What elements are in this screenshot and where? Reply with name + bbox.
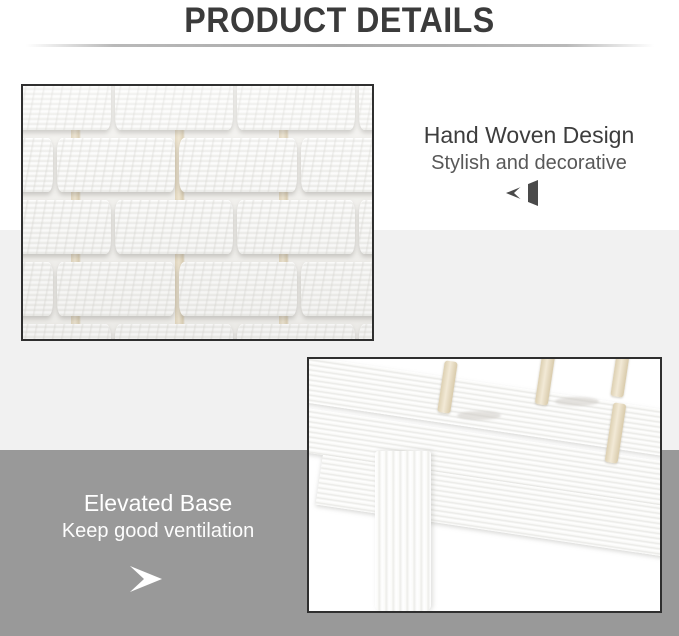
base-scene bbox=[309, 359, 660, 611]
base-wooden-post bbox=[610, 357, 632, 398]
title-divider bbox=[26, 44, 654, 47]
callout-title: Hand Woven Design bbox=[396, 120, 662, 150]
photo-elevated-base bbox=[307, 357, 662, 613]
arrow-right-icon bbox=[130, 566, 162, 592]
photo-woven-texture bbox=[21, 84, 374, 341]
weave-slat-row bbox=[23, 134, 372, 196]
base-gap-shadow bbox=[457, 411, 501, 420]
product-details-infographic: PRODUCT DETAILS bbox=[0, 0, 679, 636]
weave-slat-row bbox=[23, 258, 372, 320]
callout-title: Elevated Base bbox=[24, 488, 292, 518]
callout-elevated-base: Elevated Base Keep good ventilation bbox=[24, 488, 292, 545]
callout-subtitle: Keep good ventilation bbox=[24, 518, 292, 545]
base-leg bbox=[375, 451, 431, 611]
page-title: PRODUCT DETAILS bbox=[27, 1, 652, 41]
weave-slat-row bbox=[23, 320, 372, 341]
weave-slat-row bbox=[23, 196, 372, 258]
base-gap-shadow bbox=[555, 397, 599, 406]
callout-subtitle: Stylish and decorative bbox=[396, 150, 662, 177]
callout-hand-woven: Hand Woven Design Stylish and decorative bbox=[396, 120, 662, 177]
weave-slat-row bbox=[23, 84, 372, 134]
arrow-left-icon bbox=[506, 180, 538, 206]
weave-texture bbox=[23, 86, 372, 339]
